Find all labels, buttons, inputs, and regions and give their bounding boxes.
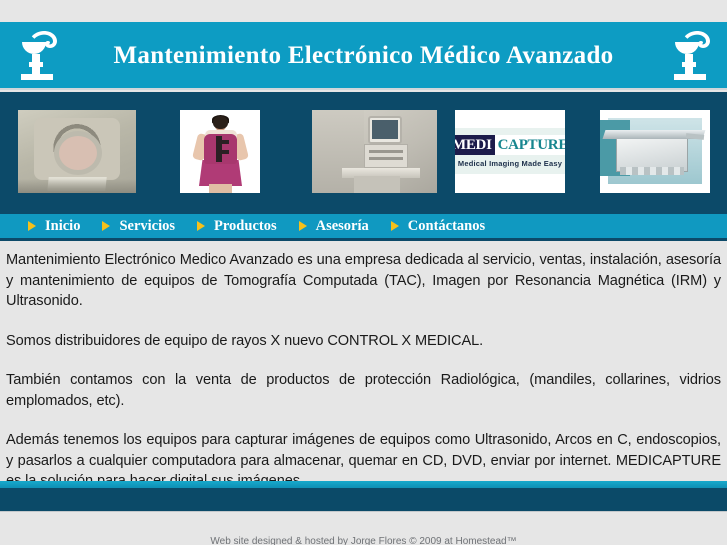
nav-item-inicio[interactable]: Inicio bbox=[28, 218, 92, 235]
capture-paragraph: Además tenemos los equipos para capturar… bbox=[6, 430, 721, 482]
nav-item-servicios[interactable]: Servicios bbox=[102, 218, 187, 235]
medicapture-word-one: MEDI bbox=[455, 135, 495, 155]
medicapture-word-two: CAPTURE bbox=[495, 135, 565, 155]
page-root: Mantenimiento Electrónico Médico Avanzad… bbox=[0, 0, 727, 545]
footer-teal-band bbox=[0, 481, 727, 488]
photo-strip: MEDI CAPTURE Medical Imaging Made Easy bbox=[0, 92, 727, 211]
site-header: Mantenimiento Electrónico Médico Avanzad… bbox=[0, 22, 727, 90]
footer-navy-band bbox=[0, 488, 727, 512]
nav-item-asesoria[interactable]: Asesoría bbox=[299, 218, 381, 235]
medicapture-logo[interactable]: MEDI CAPTURE Medical Imaging Made Easy bbox=[455, 110, 565, 193]
nav-item-contactanos[interactable]: Contáctanos bbox=[391, 218, 497, 235]
nav-label: Productos bbox=[214, 218, 289, 235]
distributor-paragraph: Somos distribuidores de equipo de rayos … bbox=[6, 331, 721, 352]
protection-paragraph: También contamos con la venta de product… bbox=[6, 370, 721, 411]
main-navigation: Inicio Servicios Productos Asesoría Cont… bbox=[0, 211, 727, 241]
arrow-right-icon bbox=[28, 221, 36, 231]
nav-item-productos[interactable]: Productos bbox=[197, 218, 289, 235]
page-title: Mantenimiento Electrónico Médico Avanzad… bbox=[0, 22, 727, 90]
arrow-right-icon bbox=[197, 221, 205, 231]
bowl-of-hygieia-logo bbox=[667, 28, 713, 84]
ct-scanner-photo[interactable] bbox=[18, 110, 136, 193]
top-gray-strip bbox=[0, 0, 727, 22]
ultrasound-console-photo[interactable] bbox=[312, 110, 437, 193]
intro-paragraph: Mantenimiento Electrónico Medico Avanzad… bbox=[6, 250, 721, 312]
lead-apron-photo[interactable] bbox=[180, 110, 260, 193]
nav-label: Asesoría bbox=[316, 218, 381, 235]
nav-label: Inicio bbox=[45, 218, 92, 235]
footer: Web site designed & hosted by Jorge Flor… bbox=[0, 512, 727, 545]
arrow-right-icon bbox=[299, 221, 307, 231]
medicapture-tagline: Medical Imaging Made Easy bbox=[458, 159, 562, 168]
arrow-right-icon bbox=[391, 221, 399, 231]
main-content: Mantenimiento Electrónico Medico Avanzad… bbox=[0, 241, 727, 482]
footer-credit: Web site designed & hosted by Jorge Flor… bbox=[0, 536, 727, 545]
arrow-right-icon bbox=[102, 221, 110, 231]
nav-label: Servicios bbox=[119, 218, 187, 235]
nav-label: Contáctanos bbox=[408, 218, 497, 235]
xray-table-photo[interactable] bbox=[600, 110, 710, 193]
